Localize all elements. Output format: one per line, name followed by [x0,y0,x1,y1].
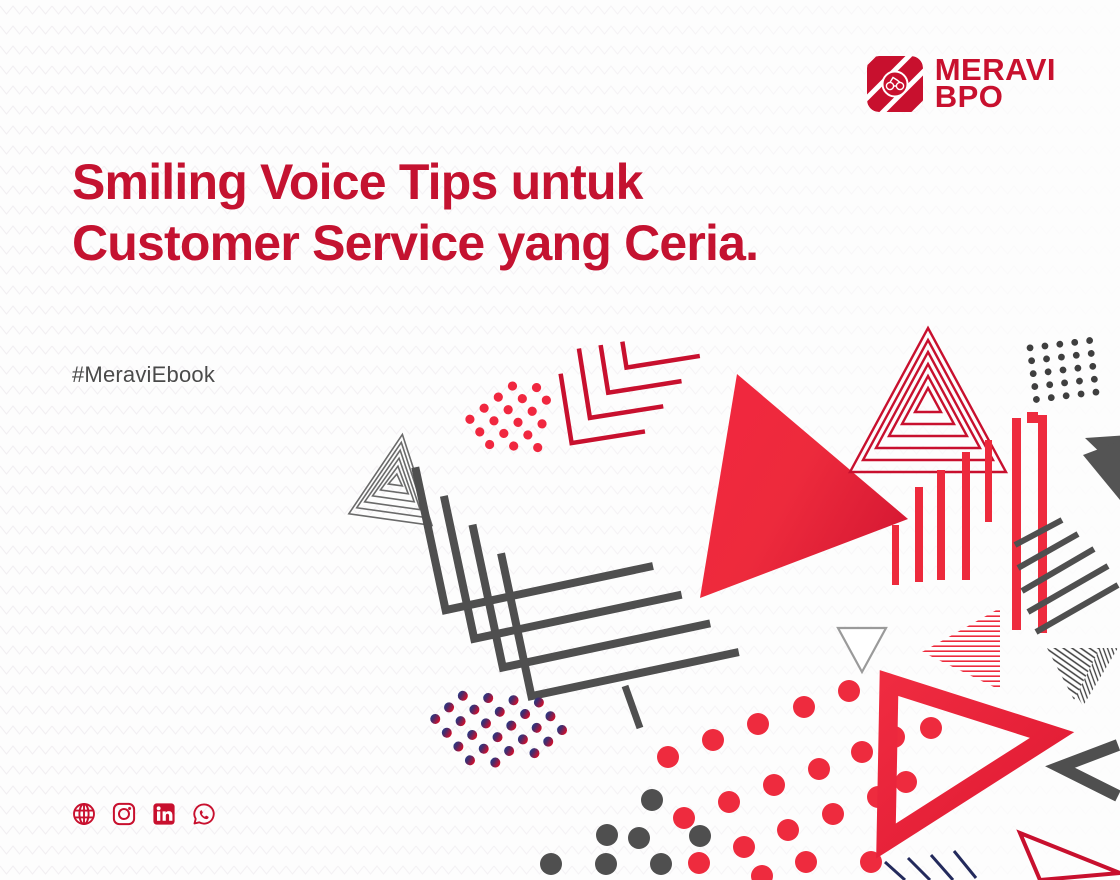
concentric-gray-triangle-outlines [349,429,444,526]
gray-short-bar [625,686,640,728]
brand-name-line2: BPO [935,84,1056,111]
red-dot-grid [463,369,572,477]
hashtag-label: #MeraviEbook [72,362,215,388]
geometric-artwork [0,0,1120,880]
dark-gray-solid-triangle-b [1083,441,1120,500]
concentric-red-triangle-outlines [850,328,1006,472]
large-red-dot-cluster [657,680,942,880]
brand-wordmark: MERAVI BPO [935,57,1056,110]
page-title: Smiling Voice Tips untuk Customer Servic… [72,152,802,274]
meravi-logo-mark [867,56,923,112]
gray-dot-grid [1026,337,1099,404]
hatched-red-triangle [922,608,1000,690]
brand-logo[interactable]: MERAVI BPO [867,56,1056,112]
ebook-cover-page: MERAVI BPO Smiling Voice Tips untuk Cust… [0,0,1120,880]
red-nested-chevrons [558,333,708,443]
diagonal-gray-stripes [1015,520,1118,632]
social-links [72,802,216,826]
gray-nested-chevrons [416,414,735,710]
navy-diagonal-strokes [885,851,976,880]
hatched-gray-triangle [1048,648,1118,706]
white-triangle-outline [838,628,886,672]
navy-to-red-dot-grid [428,654,569,795]
linkedin-icon[interactable] [152,802,176,826]
whatsapp-icon[interactable] [192,802,216,826]
red-vertical-bars [892,415,1047,633]
hatched-gray-triangle-3 [1047,648,1100,700]
crimson-triangle-outline [1020,833,1120,880]
dark-gray-solid-triangle [1085,432,1120,510]
filled-red-gradient-triangle [700,374,908,598]
red-triangle-outline-large [886,683,1052,841]
background-texture [0,0,1120,880]
gray-chevron-right [1060,745,1118,796]
website-globe-icon[interactable] [72,802,96,826]
large-gray-dot-cluster [540,789,711,875]
red-square-accent [1027,412,1038,423]
instagram-icon[interactable] [112,802,136,826]
